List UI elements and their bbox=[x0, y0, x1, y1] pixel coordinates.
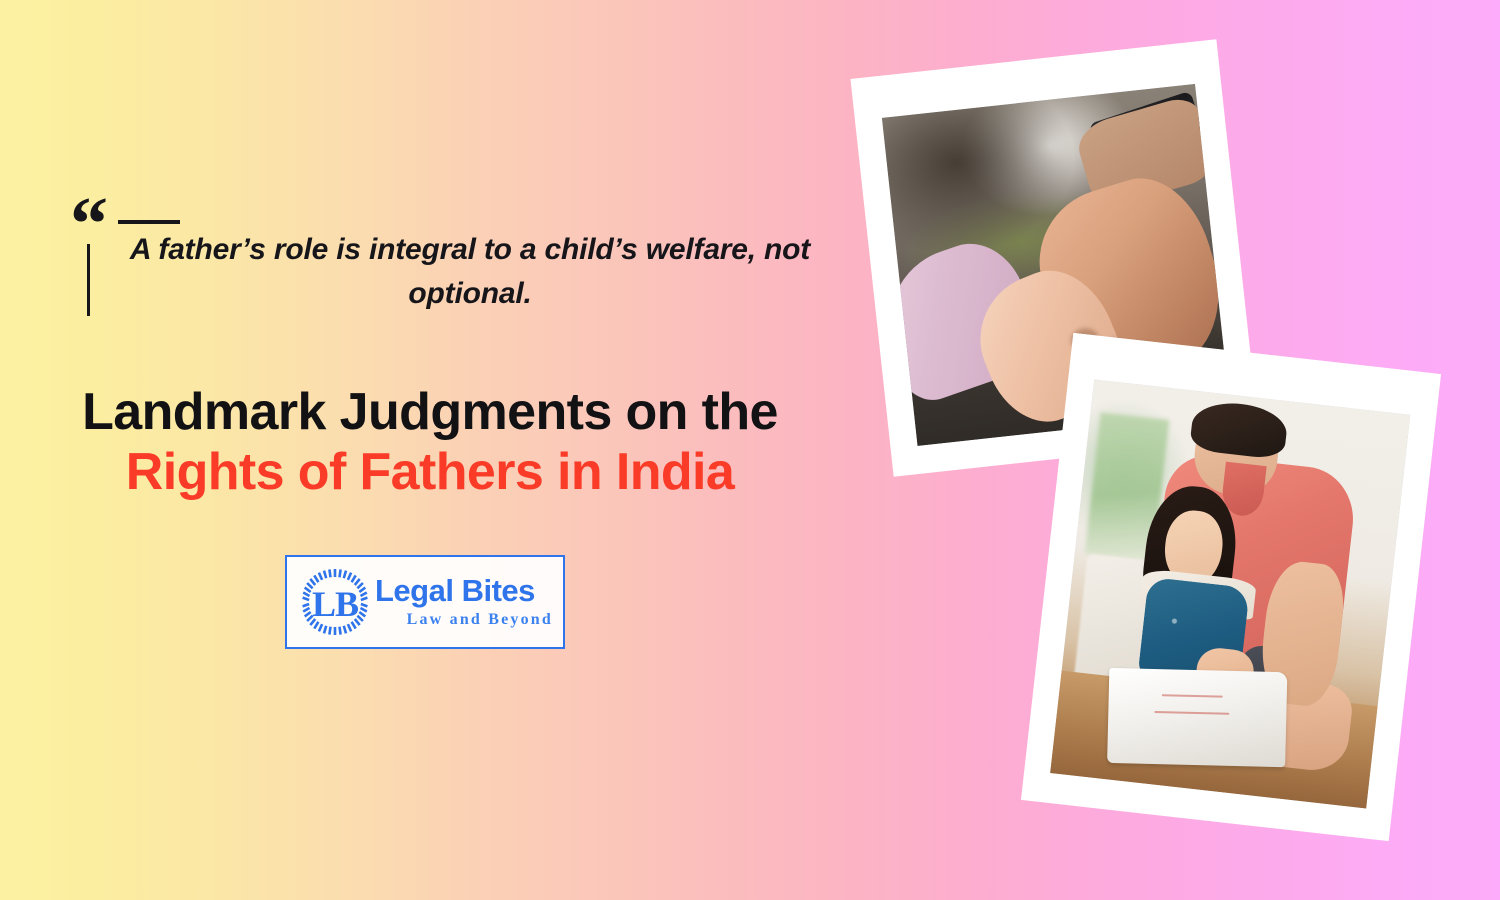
legal-bites-monogram-icon: LB bbox=[299, 566, 371, 638]
page-title: Landmark Judgments on the Rights of Fath… bbox=[40, 382, 820, 503]
photo-detail-book-text bbox=[1162, 694, 1223, 697]
photo-detail-book-text bbox=[1154, 711, 1229, 715]
photo-detail-open-book bbox=[1107, 668, 1287, 767]
headline-line-accent: Rights of Fathers in India bbox=[40, 442, 820, 502]
photo-frame-reading bbox=[1021, 333, 1441, 841]
quote-vertical-rule bbox=[87, 244, 90, 316]
photo-reading bbox=[1050, 379, 1410, 808]
svg-text:LB: LB bbox=[312, 584, 359, 624]
quote-dash-rule bbox=[118, 220, 180, 224]
brand-logo-wordmark: Legal Bites Law and Beyond bbox=[371, 575, 553, 629]
poster-canvas: “ A father’s role is integral to a child… bbox=[0, 0, 1500, 900]
photo-reading-artwork bbox=[1050, 379, 1410, 808]
brand-logo[interactable]: LB Legal Bites Law and Beyond bbox=[285, 555, 565, 649]
text-column: “ A father’s role is integral to a child… bbox=[0, 0, 860, 900]
headline-line-primary: Landmark Judgments on the bbox=[40, 382, 820, 442]
brand-tagline: Law and Beyond bbox=[375, 611, 553, 629]
brand-name: Legal Bites bbox=[375, 575, 553, 608]
quote-text: A father’s role is integral to a child’s… bbox=[110, 228, 830, 315]
